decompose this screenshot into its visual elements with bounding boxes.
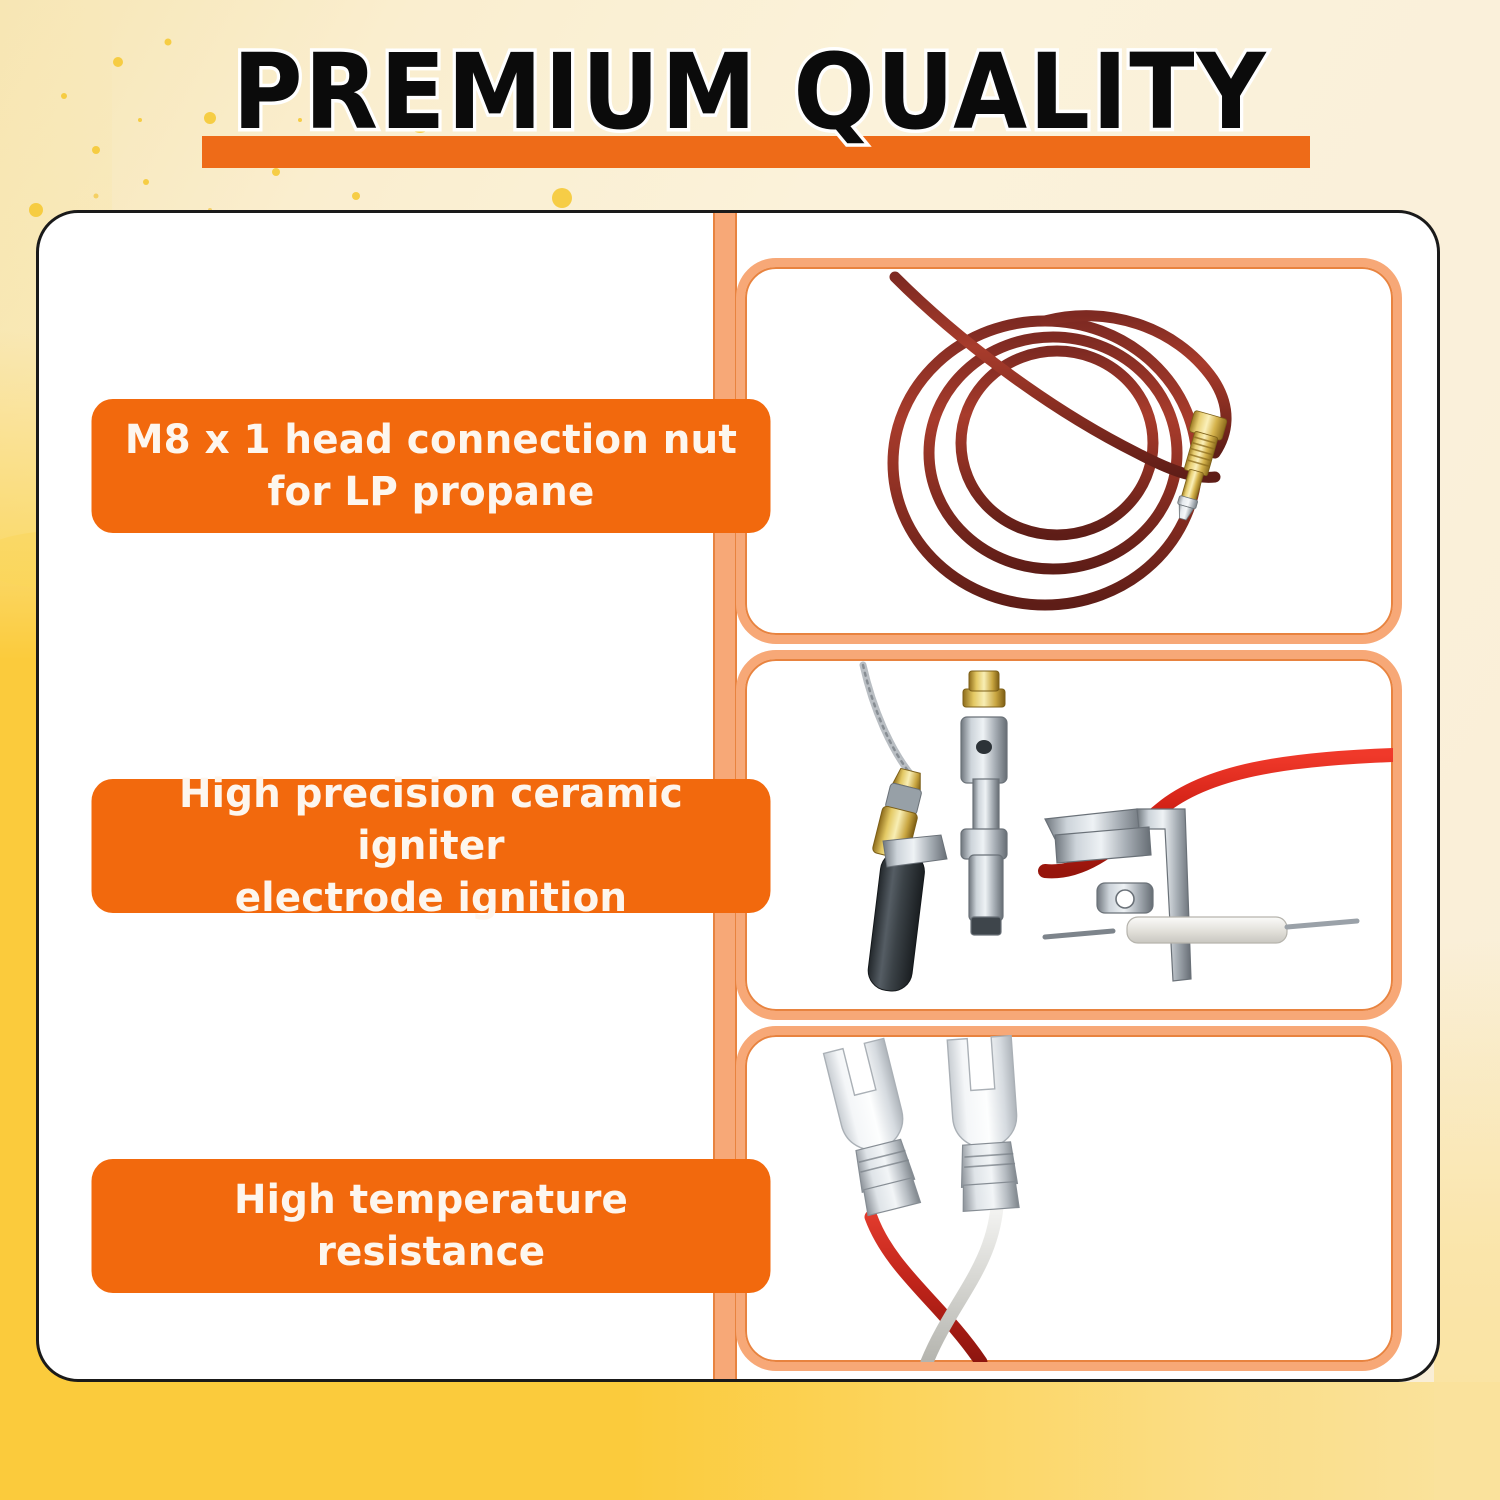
background-yellow-right-band	[1434, 940, 1500, 1500]
spade-fork-terminals-on-red-and-white-wires-icon	[745, 1035, 1393, 1362]
feature-image-panel-2: Pilot burner assembly with brass fitting…	[736, 650, 1402, 1020]
feature-label-3-text: High temperature resistance	[117, 1174, 746, 1278]
feature-label-1-line-2: for LP propane	[125, 466, 737, 518]
feature-image-panel-3: Two silver fork spade terminals crimped …	[736, 1026, 1402, 1371]
feature-label-2-line-1: High precision ceramic igniter	[117, 768, 746, 872]
page-title: PREMIUM QUALITY	[60, 36, 1440, 148]
feature-label-1-line-1: M8 x 1 head connection nut	[125, 414, 737, 466]
feature-label-2[interactable]: High precision ceramic igniter electrode…	[92, 779, 771, 913]
feature-label-1[interactable]: M8 x 1 head connection nut for LP propan…	[92, 399, 771, 533]
pilot-burner-assembly-with-ceramic-electrode-icon	[745, 659, 1393, 1011]
page-title-block: PREMIUM QUALITY	[0, 36, 1500, 156]
feature-label-1-text: M8 x 1 head connection nut for LP propan…	[125, 414, 737, 518]
feature-label-3[interactable]: High temperature resistance	[92, 1159, 771, 1293]
infographic-canvas: PREMIUM QUALITY	[0, 0, 1500, 1500]
background-yellow-bottom-band	[0, 1382, 1500, 1500]
content-card: Coiled dark red thermocouple lead with b…	[36, 210, 1440, 1382]
feature-label-2-line-2: electrode ignition	[117, 872, 746, 924]
feature-label-3-line-1: High temperature resistance	[117, 1174, 746, 1278]
feature-image-panel-1: Coiled dark red thermocouple lead with b…	[736, 258, 1402, 644]
feature-label-2-text: High precision ceramic igniter electrode…	[117, 768, 746, 924]
thermocouple-coiled-wire-with-brass-nut-icon	[745, 267, 1393, 635]
